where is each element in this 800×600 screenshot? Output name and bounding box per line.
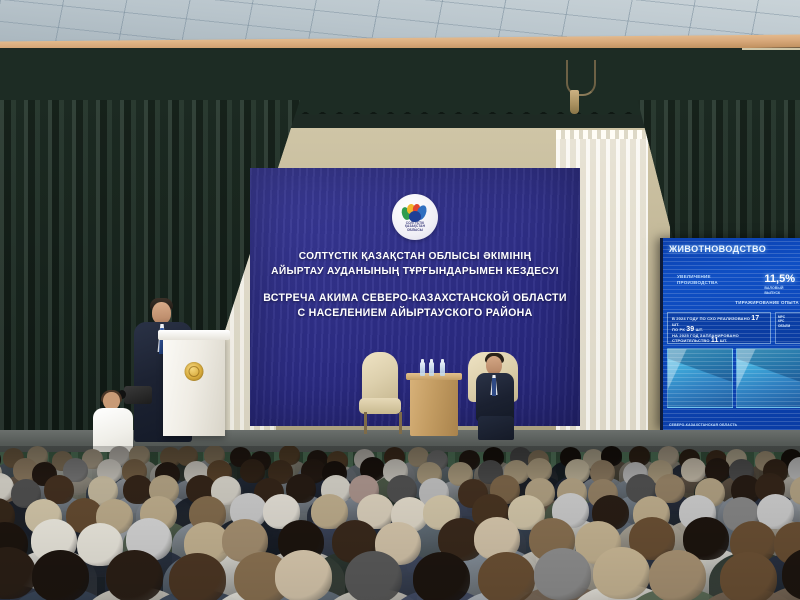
banner-russian-line1: ВСТРЕЧА АКИМА СЕВЕРО-КАЗАХСТАНСКОЙ ОБЛАС… bbox=[260, 291, 570, 306]
water-bottle bbox=[440, 362, 445, 376]
led-box-line4-unit: ШТ. bbox=[720, 338, 728, 343]
led-box-line1-prefix: В 2024 ГОДУ ПО СХО РЕАЛИЗОВАНО bbox=[672, 316, 750, 321]
water-bottle bbox=[420, 362, 425, 376]
led-footer-text: СЕВЕРО-КАЗАХСТАНСКАЯ ОБЛАСТЬ bbox=[669, 423, 737, 427]
audience-member-head bbox=[649, 550, 706, 600]
audience-area bbox=[0, 446, 800, 600]
led-band-text: ТИРАЖИРОВАНИЕ ОПЫТА bbox=[703, 300, 799, 305]
banner-text-block: СОЛТҮСТІК ҚАЗАҚСТАН ОБЛЫСЫ ӘКІМІНІҢ АЙЫР… bbox=[250, 250, 580, 320]
led-photo-right bbox=[736, 348, 800, 408]
led-box-line4: СТРОИТЕЛЬСТВО 11 ШТ. bbox=[672, 338, 766, 344]
led-kpi-block: УВЕЛИЧЕНИЕ ПРОИЗВОДСТВА 11,5% ВАЛОВЫЙ ВЫ… bbox=[677, 274, 795, 296]
led-info-box-primary: В 2024 ГОДУ ПО СХО РЕАЛИЗОВАНО 17 ШТ. ПО… bbox=[667, 312, 771, 344]
emblem-caption-line3: ОБЛЫСЫ bbox=[407, 228, 423, 232]
speaking-podium bbox=[163, 336, 225, 436]
audience-member-head bbox=[169, 553, 226, 600]
banner-kazakh-line1: СОЛТҮСТІК ҚАЗАҚСТАН ОБЛЫСЫ ӘКІМІНІҢ bbox=[260, 250, 570, 265]
audience-member-head bbox=[413, 552, 470, 600]
emblem-caption: СОЛТҮСТІК ҚАЗАҚСТАН ОБЛЫСЫ bbox=[405, 222, 425, 233]
led-slide-title: ЖИВОТНОВОДСТВО bbox=[669, 244, 766, 254]
audience-member-head bbox=[345, 551, 402, 600]
audience-member-head bbox=[478, 552, 535, 600]
region-emblem-icon: СОЛТҮСТІК ҚАЗАҚСТАН ОБЛЫСЫ bbox=[392, 194, 438, 240]
audience-member-head bbox=[593, 547, 650, 599]
audience-member-head bbox=[720, 552, 777, 600]
led-photo-left bbox=[667, 348, 733, 408]
led-photo-strip bbox=[667, 348, 800, 408]
led-box-line2-prefix: ПО РК bbox=[672, 327, 685, 332]
led-box-line1-unit: ШТ. bbox=[672, 322, 680, 327]
emblem-mark bbox=[402, 204, 428, 222]
photo-scene: СОЛТҮСТІК ҚАЗАҚСТАН ОБЛЫСЫ СОЛТҮСТІК ҚАЗ… bbox=[0, 0, 800, 600]
led-box-line1-value: 17 bbox=[751, 315, 759, 322]
banner-russian-line2: С НАСЕЛЕНИЕМ АЙЫРТАУСКОГО РАЙОНА bbox=[260, 306, 570, 321]
led-info-box-secondary: МРС КРС ОБЪЕМ bbox=[775, 312, 800, 344]
led-box-line4-prefix: СТРОИТЕЛЬСТВО bbox=[672, 338, 710, 343]
audience-member-head bbox=[275, 550, 332, 600]
banner-kazakh-line2: АЙЫРТАУ АУДАНЫНЫҢ ТҰРҒЫНДАРЫМЕН КЕЗДЕСУІ bbox=[260, 265, 570, 280]
led-box2-line3: ОБЪЕМ bbox=[778, 324, 798, 328]
led-screen-surface: ЖИВОТНОВОДСТВО УВЕЛИЧЕНИЕ ПРОИЗВОДСТВА 1… bbox=[663, 238, 800, 430]
seated-official bbox=[466, 352, 524, 440]
audience-member-head bbox=[681, 458, 706, 482]
led-box-line2-unit: ШТ. bbox=[696, 327, 704, 332]
led-kpi-value: 11,5% bbox=[764, 274, 795, 285]
curtain-tassel-icon bbox=[570, 90, 579, 114]
led-kpi-sub2: ВЫПУСК bbox=[764, 291, 795, 295]
led-kpi-label: УВЕЛИЧЕНИЕ ПРОИЗВОДСТВА bbox=[677, 274, 731, 286]
led-box-line4-value: 11 bbox=[711, 337, 719, 344]
empty-armchair bbox=[358, 352, 402, 434]
water-bottle bbox=[429, 362, 434, 376]
side-table bbox=[410, 378, 458, 436]
audience-member-head bbox=[106, 550, 163, 600]
led-presentation-screen: ЖИВОТНОВОДСТВО УВЕЛИЧЕНИЕ ПРОИЗВОДСТВА 1… bbox=[660, 238, 800, 430]
led-kpi-sub1: ВАЛОВЫЙ bbox=[764, 286, 795, 290]
audience-member-head bbox=[32, 550, 89, 600]
state-coat-of-arms-icon bbox=[185, 362, 204, 381]
audience-member-head bbox=[534, 548, 591, 600]
